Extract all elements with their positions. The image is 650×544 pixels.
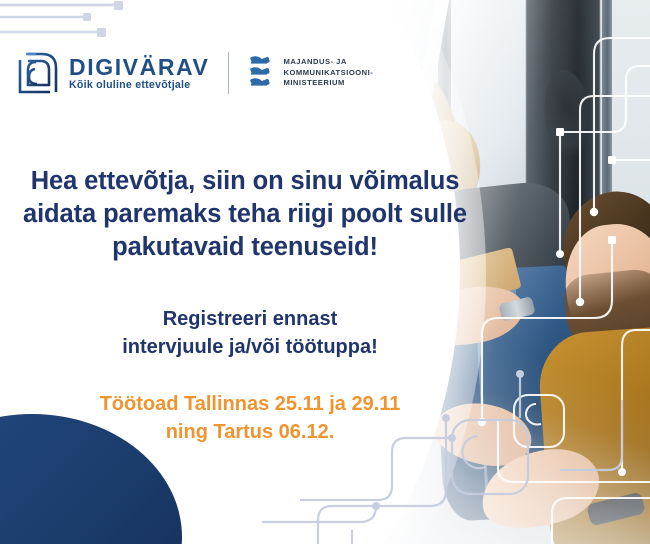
headline-line-3: pakutavaid teenuseid! xyxy=(0,231,490,264)
ministry-logo[interactable]: Majandus- ja Kommunikatsiooni- ministeer… xyxy=(247,54,374,92)
headline-line-1: Hea ettevõtja, siin on sinu võimalus xyxy=(0,165,490,198)
subheading-line-2: intervjuule ja/või töötuppa! xyxy=(0,334,500,362)
ministry-line-2: Kommunikatsiooni- xyxy=(284,68,374,79)
digivarav-title: DIGIVÄRAV xyxy=(69,56,210,79)
content-layer: DIGIVÄRAV Kõik oluline ettevõtjale xyxy=(0,0,650,544)
promo-banner: DIGIVÄRAV Kõik oluline ettevõtjale xyxy=(0,0,650,544)
logo-divider xyxy=(228,52,229,94)
dates-line-2: ning Tartus 06.12. xyxy=(0,419,500,447)
ministry-line-3: ministeerium xyxy=(284,78,374,89)
digivarav-gateway-logo xyxy=(16,50,60,96)
digivarav-tagline: Kõik oluline ettevõtjale xyxy=(69,80,210,91)
workshop-dates: Töötoad Tallinnas 25.11 ja 29.11 ning Ta… xyxy=(0,391,500,446)
ministry-name: Majandus- ja Kommunikatsiooni- ministeer… xyxy=(284,57,374,89)
dates-line-1: Töötoad Tallinnas 25.11 ja 29.11 xyxy=(0,391,500,419)
logo-row: DIGIVÄRAV Kõik oluline ettevõtjale xyxy=(16,50,373,96)
digivarav-wordmark: DIGIVÄRAV Kõik oluline ettevõtjale xyxy=(69,56,210,91)
headline-line-2: aidata paremaks teha riigi poolt sulle xyxy=(0,198,490,231)
subheading-line-1: Registreeri ennast xyxy=(0,306,500,334)
estonia-coat-of-arms-three-lions xyxy=(247,54,275,92)
headline: Hea ettevõtja, siin on sinu võimalus aid… xyxy=(0,165,490,264)
subheading: Registreeri ennast intervjuule ja/või tö… xyxy=(0,306,500,361)
ministry-line-1: Majandus- ja xyxy=(284,57,374,68)
digivarav-logo[interactable]: DIGIVÄRAV Kõik oluline ettevõtjale xyxy=(16,50,210,96)
